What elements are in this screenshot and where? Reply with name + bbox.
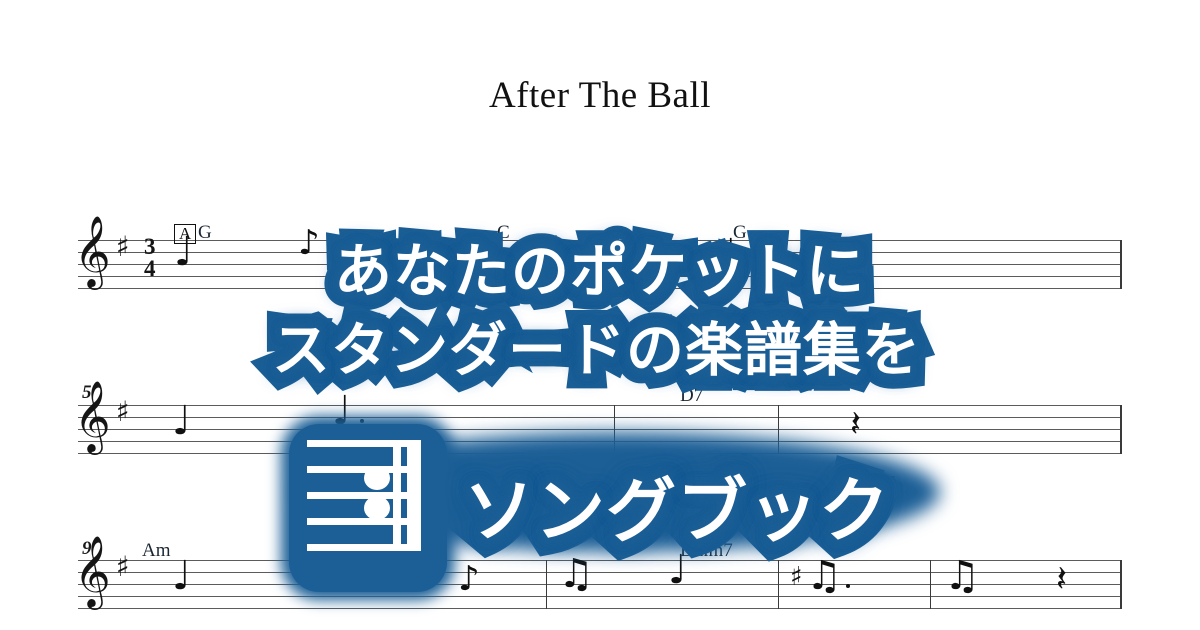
staff-system-3: 𝄞 ♯ ♩ ♩ ♪ ♫ ♩ ♯ ♫ ♫ 𝄽 (78, 560, 1122, 612)
note-dotted-half: ♩ (840, 256, 859, 296)
page-title: After The Ball (0, 74, 1200, 117)
key-signature: ♯ (116, 233, 130, 261)
barline-end (1120, 240, 1122, 289)
note-half: ♫ (558, 554, 594, 594)
chord-symbol: Am (142, 540, 171, 562)
augmentation-dot (846, 584, 850, 588)
key-signature: ♯ (116, 553, 130, 581)
staff-line (78, 608, 1122, 609)
treble-clef-icon: 𝄞 (74, 385, 111, 447)
treble-clef-icon: 𝄞 (74, 540, 111, 602)
chord-symbol: Ddim7 (680, 540, 733, 562)
staff-line (78, 276, 1122, 277)
barline (778, 405, 779, 454)
rehearsal-mark-a: A (174, 224, 196, 244)
staff-line (78, 252, 1122, 253)
staff-line (78, 429, 1122, 430)
staff-line (78, 264, 1122, 265)
time-signature: 3 4 (144, 236, 156, 280)
note-quarter: ♩ (172, 556, 191, 596)
staff-line (78, 417, 1122, 418)
staff-system-1: 𝄞 ♯ 3 4 ♩ ♪ ♩ ♩ ♩ (78, 240, 1122, 292)
note-quarter: ♩ (466, 236, 485, 276)
barline (546, 560, 547, 609)
augmentation-dot (360, 419, 364, 423)
augmentation-dot (360, 574, 364, 578)
treble-clef-icon: 𝄞 (74, 220, 111, 282)
note-dotted-quarter: ♩ (332, 546, 351, 586)
note-dotted-half: ♫ (806, 556, 842, 596)
note-half: ♫ (944, 556, 980, 596)
staff-line (78, 240, 1122, 241)
note-quarter: ♩ (172, 401, 191, 441)
note-dotted-quarter: ♩ (332, 391, 351, 431)
staff-line (78, 441, 1122, 442)
staff-line (78, 405, 1122, 406)
barline-end (1120, 560, 1122, 609)
staff-system-2: 𝄞 ♯ ♩ ♩ 𝄽 (78, 405, 1122, 457)
chord-symbol: G (198, 222, 212, 244)
note-eighth: ♪ (458, 562, 480, 596)
quarter-rest: 𝄽 (850, 407, 861, 443)
barline (836, 240, 837, 289)
sheet-music-background: After The Ball 𝄞 ♯ 3 4 ♩ ♪ ♩ ♩ ♩ A G C (0, 0, 1200, 630)
barline (614, 405, 615, 454)
screenshot-root: After The Ball 𝄞 ♯ 3 4 ♩ ♪ ♩ ♩ ♩ A G C (0, 0, 1200, 630)
chord-symbol: D7 (680, 385, 703, 407)
augmentation-dot (866, 295, 870, 299)
measure-number: 5 (82, 382, 92, 404)
barline (778, 560, 779, 609)
barline (930, 560, 931, 609)
sharp-accidental: ♯ (790, 564, 803, 590)
barline-end (1120, 405, 1122, 454)
chord-symbol: C (497, 222, 510, 244)
quarter-rest: 𝄽 (1056, 562, 1067, 598)
note-eighth: ♪ (298, 226, 320, 260)
time-signature-beat-value: 4 (144, 258, 156, 280)
chord-symbol: G (733, 222, 747, 244)
staff-line (78, 288, 1122, 289)
key-signature: ♯ (116, 398, 130, 426)
time-signature-beats: 3 (144, 236, 156, 258)
measure-number: 9 (82, 538, 92, 560)
staff-line (78, 453, 1122, 454)
